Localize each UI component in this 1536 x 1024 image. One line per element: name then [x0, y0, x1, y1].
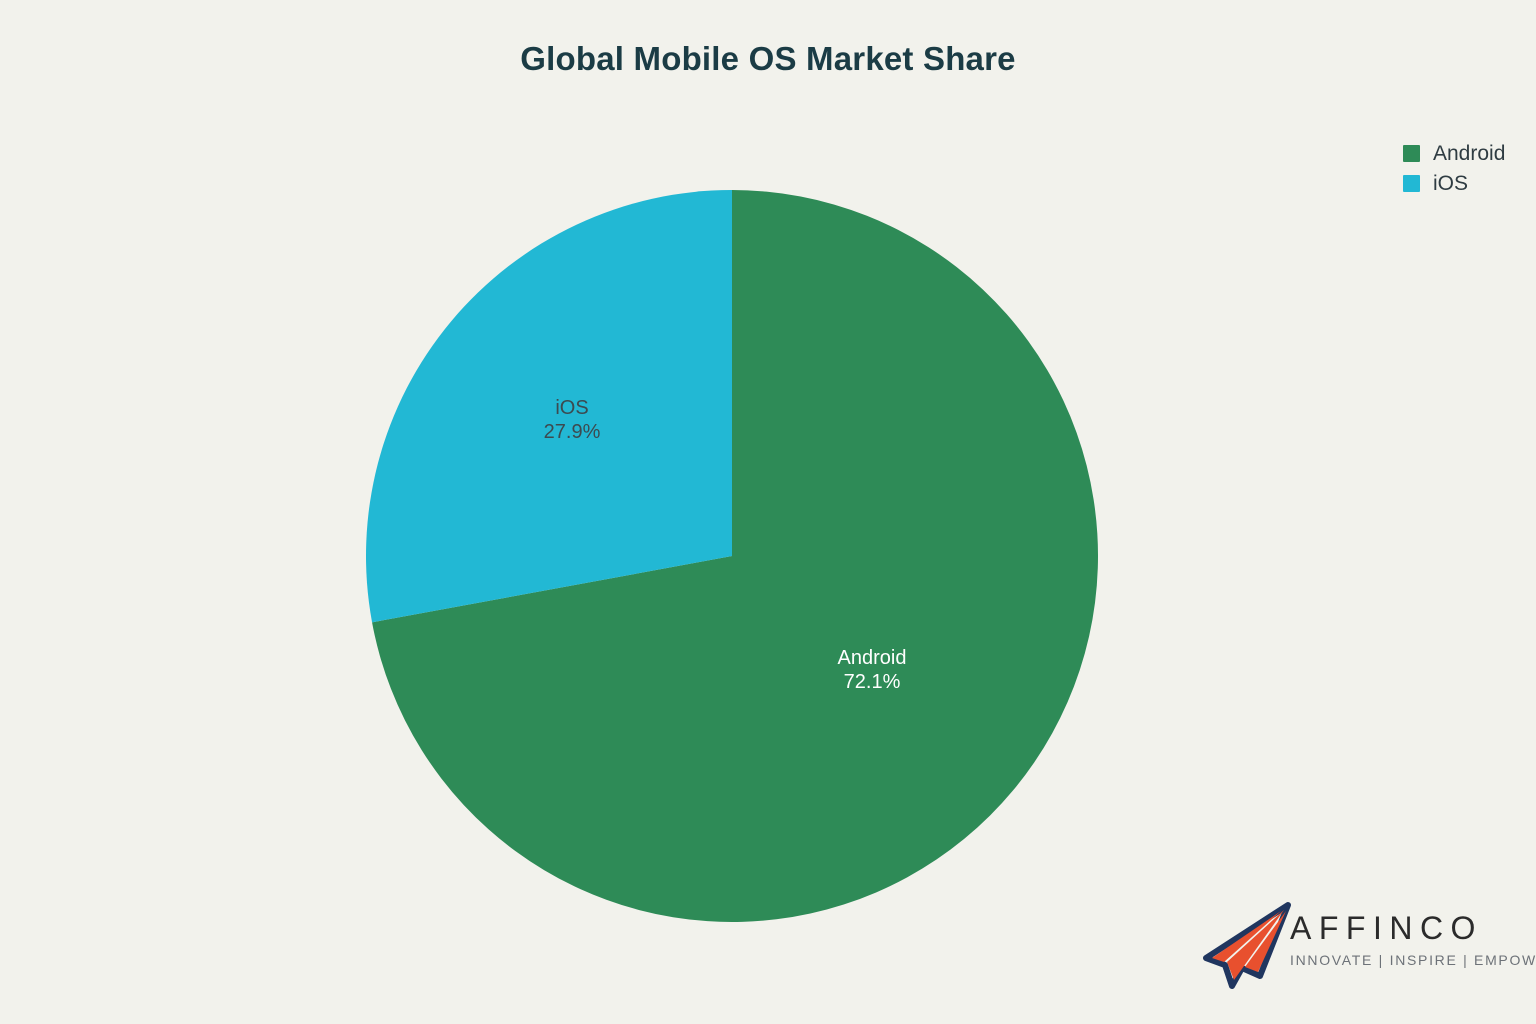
legend-swatch-android-icon	[1403, 145, 1420, 162]
legend-swatch-ios-icon	[1403, 175, 1420, 192]
legend-label-android: Android	[1433, 143, 1505, 164]
logo-tagline: INNOVATE | INSPIRE | EMPOWER	[1290, 953, 1508, 967]
pie-slice-ios[interactable]	[366, 190, 732, 622]
chart-legend: Android iOS	[1403, 138, 1536, 198]
legend-item-android[interactable]: Android	[1403, 138, 1536, 168]
pie-chart-plot-area	[366, 190, 1098, 922]
logo-wordmark: AFFINCO	[1290, 912, 1508, 944]
paper-plane-icon	[1198, 900, 1294, 992]
brand-logo: AFFINCO INNOVATE | INSPIRE | EMPOWER	[1198, 898, 1508, 998]
chart-title: Global Mobile OS Market Share	[0, 40, 1536, 78]
pie-chart-figure: Global Mobile OS Market Share iOS 27.9% …	[0, 0, 1536, 1024]
chart-title-text: Global Mobile OS Market Share	[520, 40, 1015, 78]
legend-item-ios[interactable]: iOS	[1403, 168, 1536, 198]
logo-text-block: AFFINCO INNOVATE | INSPIRE | EMPOWER	[1290, 912, 1508, 967]
pie-svg	[366, 190, 1098, 922]
legend-label-ios: iOS	[1433, 173, 1468, 194]
